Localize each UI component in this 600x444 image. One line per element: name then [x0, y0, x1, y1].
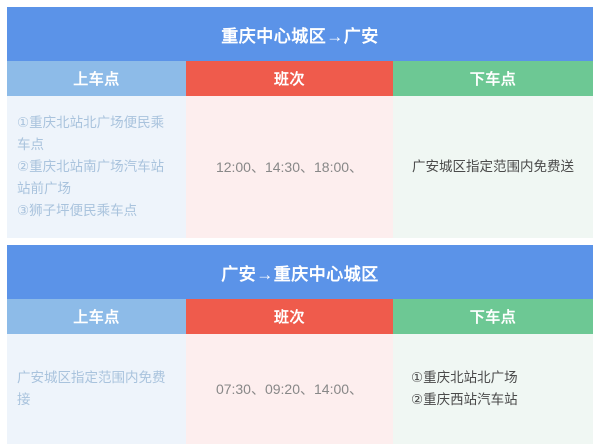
departure-times-outbound: 12:00、14:30、18:00、: [186, 96, 393, 238]
route-title-return: 广安→重庆中心城区: [7, 245, 593, 299]
column-header-boarding: 上车点: [7, 299, 186, 334]
shuttle-schedule-page: 重庆中心城区→广安 上车点 班次 下车点 ①重庆北站北广场便民乘车点②重庆北站南…: [0, 0, 600, 425]
column-header-times: 班次: [186, 299, 393, 334]
column-header-boarding: 上车点: [7, 61, 186, 96]
route-title-outbound: 重庆中心城区→广安: [7, 7, 593, 61]
departure-times-return: 07:30、09:20、14:00、: [186, 334, 393, 444]
table-row: 广安城区指定范围内免费接 07:30、09:20、14:00、 ①重庆北站北广场…: [7, 334, 593, 444]
schedule-table-outbound: 重庆中心城区→广安 上车点 班次 下车点 ①重庆北站北广场便民乘车点②重庆北站南…: [7, 7, 593, 238]
dropoff-points-outbound: 广安城区指定范围内免费送: [393, 96, 593, 238]
table-title-row: 重庆中心城区→广安: [7, 7, 593, 61]
table-header-row: 上车点 班次 下车点: [7, 299, 593, 334]
table-title-row: 广安→重庆中心城区: [7, 245, 593, 299]
table-header-row: 上车点 班次 下车点: [7, 61, 593, 96]
column-header-dropoff: 下车点: [393, 61, 593, 96]
table-row: ①重庆北站北广场便民乘车点②重庆北站南广场汽车站站前广场③狮子坪便民乘车点 12…: [7, 96, 593, 238]
boarding-points-return: 广安城区指定范围内免费接: [7, 334, 186, 444]
schedule-table-return: 广安→重庆中心城区 上车点 班次 下车点 广安城区指定范围内免费接 07:30、…: [7, 245, 593, 444]
boarding-points-outbound: ①重庆北站北广场便民乘车点②重庆北站南广场汽车站站前广场③狮子坪便民乘车点: [7, 96, 186, 238]
column-header-times: 班次: [186, 61, 393, 96]
dropoff-points-return: ①重庆北站北广场②重庆西站汽车站: [393, 334, 593, 444]
column-header-dropoff: 下车点: [393, 299, 593, 334]
